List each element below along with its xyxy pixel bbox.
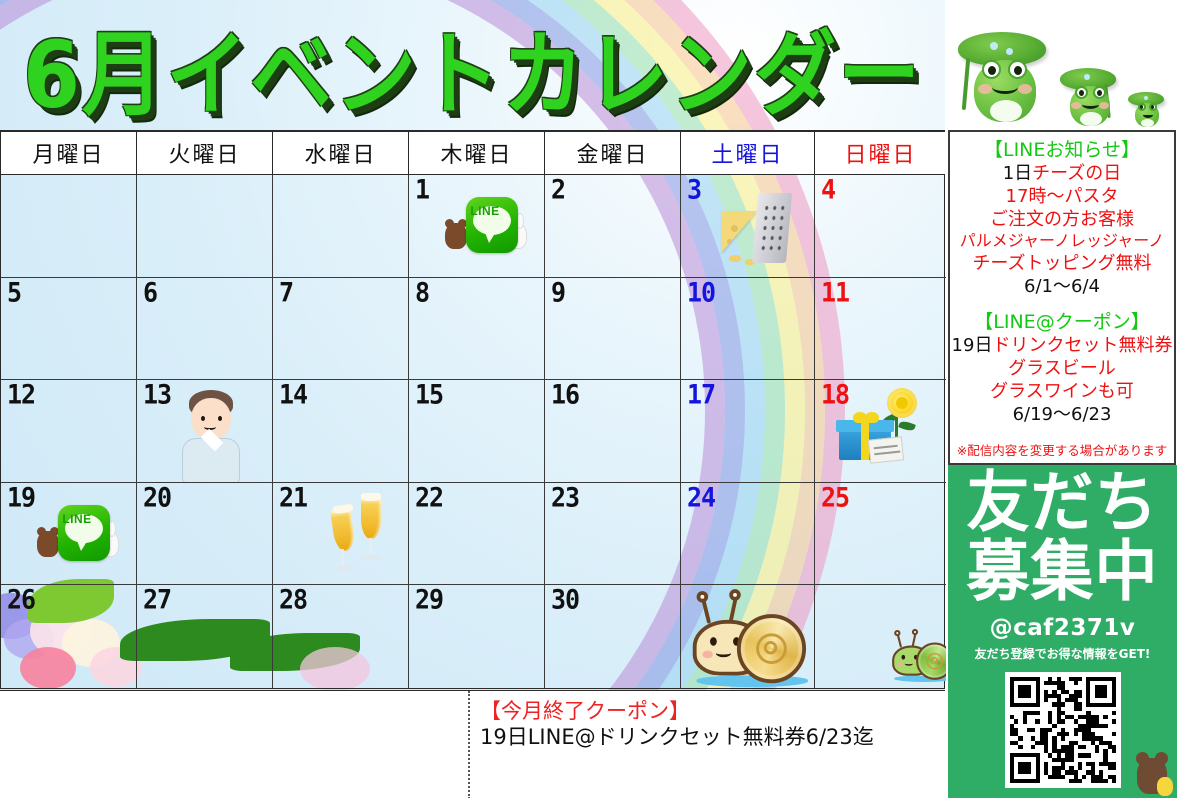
day-number: 27: [143, 586, 171, 614]
line-coupon-dates: 6/19〜6/23: [950, 403, 1174, 426]
day-number: 24: [687, 484, 715, 512]
friend-line1: 友だち: [948, 469, 1177, 535]
day-number: 4: [821, 176, 835, 204]
day-number: 26: [7, 586, 35, 614]
line-news-dates: 6/1〜6/4: [950, 275, 1174, 298]
calendar-cell-empty[interactable]: [273, 175, 409, 278]
calendar-cell-day-21[interactable]: 21: [273, 483, 409, 586]
calendar-cell-day-3[interactable]: 3: [681, 175, 815, 278]
day-number: 19: [7, 484, 35, 512]
frog-illustration: [948, 22, 1176, 134]
calendar-cell-day-14[interactable]: 14: [273, 380, 409, 483]
cheese-grater-icon: [721, 189, 809, 269]
line-news-line1: 1日チーズの日: [950, 162, 1174, 185]
calendar-cell-empty[interactable]: [815, 585, 946, 688]
line-coupon-heading: 【LINE@クーポン】: [950, 310, 1174, 334]
line-coupon-line3: グラスワインも可: [950, 380, 1174, 403]
calendar-cell-day-28[interactable]: 28: [273, 585, 409, 688]
snail-icon: [687, 593, 812, 688]
day-number: 22: [415, 484, 443, 512]
calendar-cell-day-15[interactable]: 15: [409, 380, 545, 483]
calendar-table: 月曜日火曜日水曜日木曜日金曜日土曜日日曜日 1LINE2345678910111…: [0, 130, 945, 690]
line-news-heading: 【LINEお知らせ】: [950, 138, 1174, 162]
calendar-header-row: 月曜日火曜日水曜日木曜日金曜日土曜日日曜日: [0, 130, 945, 175]
calendar-poster: 6月イベントカレンダー: [0, 0, 1177, 798]
calendar-cell-day-13[interactable]: 13: [137, 380, 273, 483]
day-number: 29: [415, 586, 443, 614]
day-number: 14: [279, 381, 307, 409]
calendar-cell-day-20[interactable]: 20: [137, 483, 273, 586]
calendar-cell-day-2[interactable]: 2: [545, 175, 681, 278]
calendar-cell-empty[interactable]: [1, 175, 137, 278]
weekday-header-0: 月曜日: [1, 132, 137, 174]
title-text: 6月イベントカレンダー: [23, 0, 922, 133]
day-number: 2: [551, 176, 565, 204]
calendar-cell-day-19[interactable]: 19LINE: [1, 483, 137, 586]
weekday-header-1: 火曜日: [137, 132, 273, 174]
day-number: 6: [143, 279, 157, 307]
calendar-cell-empty[interactable]: [137, 175, 273, 278]
day-number: 28: [279, 586, 307, 614]
snail-icon: [889, 631, 946, 683]
calendar-cell-day-24[interactable]: 24: [681, 483, 815, 586]
calendar-body: 1LINE2345678910111213141516171819LINE202…: [0, 175, 945, 689]
calendar-cell-day-5[interactable]: 5: [1, 278, 137, 381]
coupon-cut-line: [468, 691, 470, 798]
day-number: 9: [551, 279, 565, 307]
fathers-day-gift-icon: [833, 388, 933, 468]
day-number: 21: [279, 484, 307, 512]
calendar-cell-day-25[interactable]: 25: [815, 483, 946, 586]
beer-glasses-icon: [331, 491, 397, 579]
line-coupon-line2: グラスビール: [950, 357, 1174, 380]
calendar-cell-day-17[interactable]: 17: [681, 380, 815, 483]
day-number: 15: [415, 381, 443, 409]
day-number: 13: [143, 381, 171, 409]
line-news-line2: 17時〜パスタ: [950, 185, 1174, 208]
weekday-header-4: 金曜日: [545, 132, 681, 174]
friend-subtitle: 友だち登録でお得な情報をGET!: [948, 645, 1177, 662]
line-news-line5: チーズトッピング無料: [950, 252, 1174, 275]
info-panel: 【LINEお知らせ】 1日チーズの日 17時〜パスタ ご注文の方お客様 パルメジ…: [948, 130, 1176, 465]
weekday-header-3: 木曜日: [409, 132, 545, 174]
day-number: 20: [143, 484, 171, 512]
day-number: 16: [551, 381, 579, 409]
day-number: 5: [7, 279, 21, 307]
calendar-cell-day-23[interactable]: 23: [545, 483, 681, 586]
calendar-cell-day-27[interactable]: 27: [137, 585, 273, 688]
info-disclaimer: ※配信内容を変更する場合があります: [950, 440, 1174, 459]
day-number: 25: [821, 484, 849, 512]
calendar-cell-day-30[interactable]: 30: [545, 585, 681, 688]
line-news-line4: パルメジャーノレッジャーノ: [950, 231, 1174, 251]
line-news-line3: ご注文の方お客様: [950, 208, 1174, 231]
calendar-cell-day-8[interactable]: 8: [409, 278, 545, 381]
weekday-header-5: 土曜日: [681, 132, 815, 174]
day-number: 7: [279, 279, 293, 307]
weekday-header-6: 日曜日: [815, 132, 946, 174]
calendar-cell-day-4[interactable]: 4: [815, 175, 946, 278]
day-number: 1: [415, 176, 429, 204]
calendar-cell-day-11[interactable]: 11: [815, 278, 946, 381]
line-account-id: @caf2371v: [948, 615, 1177, 641]
calendar-cell-day-16[interactable]: 16: [545, 380, 681, 483]
day-number: 8: [415, 279, 429, 307]
calendar-cell-day-22[interactable]: 22: [409, 483, 545, 586]
day-number: 3: [687, 176, 701, 204]
day-number: 17: [687, 381, 715, 409]
calendar-cell-empty[interactable]: [681, 585, 815, 688]
calendar-cell-day-12[interactable]: 12: [1, 380, 137, 483]
poster-title: 6月イベントカレンダー: [0, 6, 945, 126]
coupon-body: 19日LINE@ドリンクセット無料券6/23迄: [480, 721, 874, 751]
bottom-coupon[interactable]: 【今月終了クーポン】 19日LINE@ドリンクセット無料券6/23迄: [0, 690, 945, 798]
line-bear-icon: [445, 223, 467, 249]
calendar-cell-day-9[interactable]: 9: [545, 278, 681, 381]
calendar-cell-day-10[interactable]: 10: [681, 278, 815, 381]
calendar-cell-day-29[interactable]: 29: [409, 585, 545, 688]
friend-line2: 募集中: [948, 538, 1177, 604]
day-number: 12: [7, 381, 35, 409]
add-friend-panel[interactable]: 友だち 募集中 @caf2371v 友だち登録でお得な情報をGET!: [948, 465, 1177, 798]
calendar-cell-day-18[interactable]: 18: [815, 380, 946, 483]
calendar-cell-day-6[interactable]: 6: [137, 278, 273, 381]
line-icon: LINE: [37, 505, 133, 565]
line-icon: LINE: [445, 197, 541, 257]
weekday-header-2: 水曜日: [273, 132, 409, 174]
line-bear-icon: [37, 531, 59, 557]
calendar-cell-day-7[interactable]: 7: [273, 278, 409, 381]
line-coupon-line1: 19日ドリンクセット無料券: [950, 334, 1174, 357]
qr-code-icon[interactable]: [1005, 672, 1121, 788]
calendar-cell-day-1[interactable]: 1LINE: [409, 175, 545, 278]
day-number: 30: [551, 586, 579, 614]
calendar-cell-day-26[interactable]: 26: [1, 585, 137, 688]
line-chick-mascot-icon: [1157, 777, 1173, 796]
day-number: 10: [687, 279, 715, 307]
father-illustration: [177, 390, 247, 483]
day-number: 11: [821, 279, 849, 307]
day-number: 23: [551, 484, 579, 512]
